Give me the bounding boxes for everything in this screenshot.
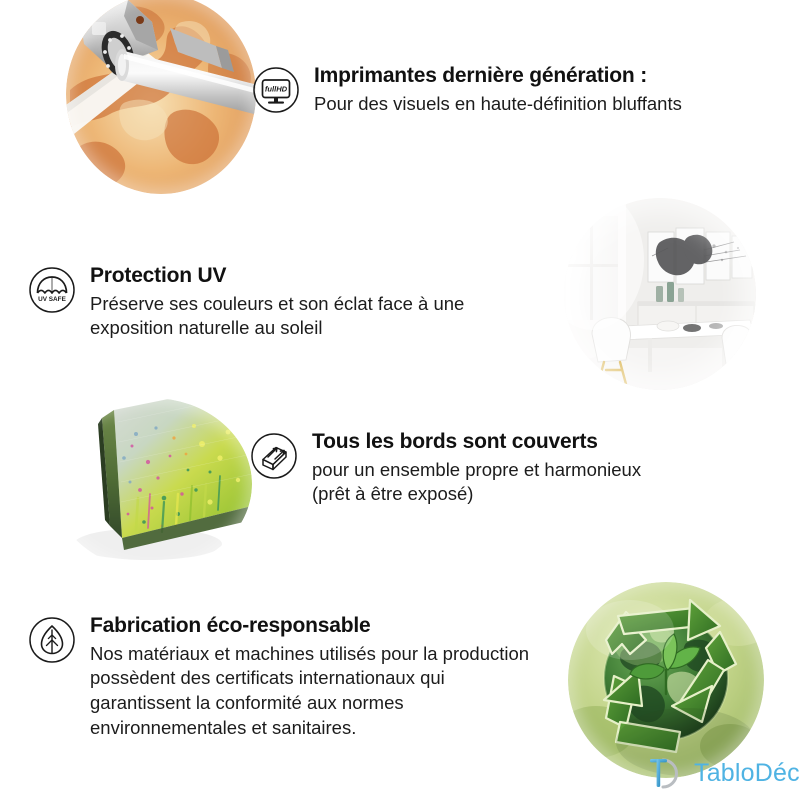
feature-edges-text: Tous les bords sont couverts pour un ens… [312, 428, 641, 507]
feature-uv-title: Protection UV [90, 264, 464, 289]
canvas-photo-inner [52, 398, 252, 570]
feature-printers: fullHD Imprimantes dernière génération :… [252, 62, 682, 116]
wall-canvas-panels [648, 228, 752, 284]
canvas-photo-art [52, 398, 252, 570]
room-photo-inner [564, 198, 756, 390]
feature-printers-body: Pour des visuels en haute-définition blu… [314, 92, 682, 117]
feature-printers-body-line-1: Pour des visuels en haute-définition blu… [314, 92, 682, 117]
feature-eco-manufacturing: Fabrication éco-responsable Nos matériau… [28, 612, 529, 740]
eco-photo-art [568, 582, 764, 778]
feature-wrapped-edges: Tous les bords sont couverts pour un ens… [250, 428, 641, 507]
svg-text:UV SAFE: UV SAFE [38, 296, 66, 303]
svg-text:fullHD: fullHD [265, 85, 288, 94]
leaf-icon [28, 616, 76, 664]
feature-printers-text: Imprimantes dernière génération : Pour d… [314, 62, 682, 116]
feature-eco-body: Nos matériaux et machines utilisés pour … [90, 642, 529, 740]
fullhd-monitor-icon: fullHD [252, 66, 300, 114]
feature-eco-text: Fabrication éco-responsable Nos matériau… [90, 612, 529, 740]
interior-dining-room-photo [564, 198, 756, 390]
room-photo-art [564, 198, 756, 390]
feature-eco-body-line-1: Nos matériaux et machines utilisés pour … [90, 642, 529, 667]
eco-photo-inner [568, 582, 764, 778]
tablodeco-logo[interactable]: TabloDéco ™ fr [646, 752, 800, 794]
printer-photo-inner [66, 0, 256, 194]
feature-uv-text: Protection UV Préserve ses couleurs et s… [90, 262, 464, 341]
tablodeco-wordmark-text: TabloDéco [694, 759, 800, 787]
feature-eco-body-line-3: garantissent la conformité aux normes [90, 691, 529, 716]
green-earth-recycling-photo [568, 582, 764, 778]
feature-uv-body: Préserve ses couleurs et son éclat face … [90, 292, 464, 341]
feature-eco-body-line-4: environnementales et sanitaires. [90, 716, 529, 741]
feature-eco-title: Fabrication éco-responsable [90, 614, 529, 639]
wrapped-edges-icon [250, 432, 298, 480]
tablodeco-wordmark: TabloDéco ™ [694, 761, 800, 786]
feature-uv-body-line-1: Préserve ses couleurs et son éclat face … [90, 292, 464, 317]
feature-edges-title: Tous les bords sont couverts [312, 430, 641, 455]
infographic-canvas: fullHD Imprimantes dernière génération :… [0, 0, 800, 800]
feature-uv-body-line-2: exposition naturelle au soleil [90, 316, 464, 341]
feature-edges-body-line-1: pour un ensemble propre et harmonieux [312, 458, 641, 483]
canvas-wrapped-corner-photo [52, 398, 252, 570]
feature-eco-body-line-2: possèdent des certificats internationaux… [90, 666, 529, 691]
feature-edges-body-line-2: (prêt à être exposé) [312, 482, 641, 507]
feature-uv-protection: UV SAFE Protection UV Préserve ses coule… [28, 262, 464, 341]
printer-photo-art [66, 0, 256, 194]
feature-edges-body: pour un ensemble propre et harmonieux (p… [312, 458, 641, 507]
tablodeco-logo-mark-icon [646, 752, 688, 794]
printer-head-world-map-photo [66, 0, 256, 194]
feature-printers-title: Imprimantes dernière génération : [314, 64, 682, 89]
uv-safe-umbrella-icon: UV SAFE [28, 266, 76, 314]
